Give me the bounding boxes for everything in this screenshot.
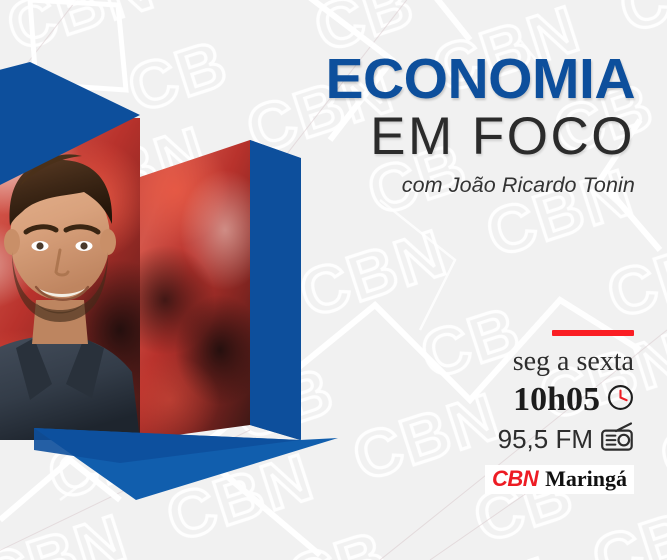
schedule-frequency-row: 95,5 FM: [334, 422, 634, 457]
schedule-time: 10h05: [513, 382, 600, 418]
accent-rule: [552, 330, 634, 336]
schedule-block: seg a sexta 10h05 95,5 FM: [334, 330, 634, 494]
program-title-block: ECONOMIA EM FOCO com João Ricardo Tonin: [305, 52, 635, 198]
program-title-line2: EM FOCO: [305, 110, 635, 164]
schedule-days: seg a sexta: [334, 347, 634, 378]
clock-icon: [607, 384, 634, 416]
station-brand: CBN: [492, 468, 538, 490]
host-credit: com João Ricardo Tonin: [305, 173, 635, 198]
broadcast-promo-card: CBN CBN: [0, 0, 667, 560]
station-logo-row: CBN Maringá: [334, 457, 634, 494]
schedule-frequency: 95,5 FM: [498, 426, 593, 453]
program-title-line1: ECONOMIA: [305, 52, 635, 108]
radio-icon: [600, 422, 634, 457]
schedule-time-row: 10h05: [334, 382, 634, 418]
station-logo: CBN Maringá: [485, 465, 634, 494]
station-city: Maringá: [545, 468, 627, 490]
